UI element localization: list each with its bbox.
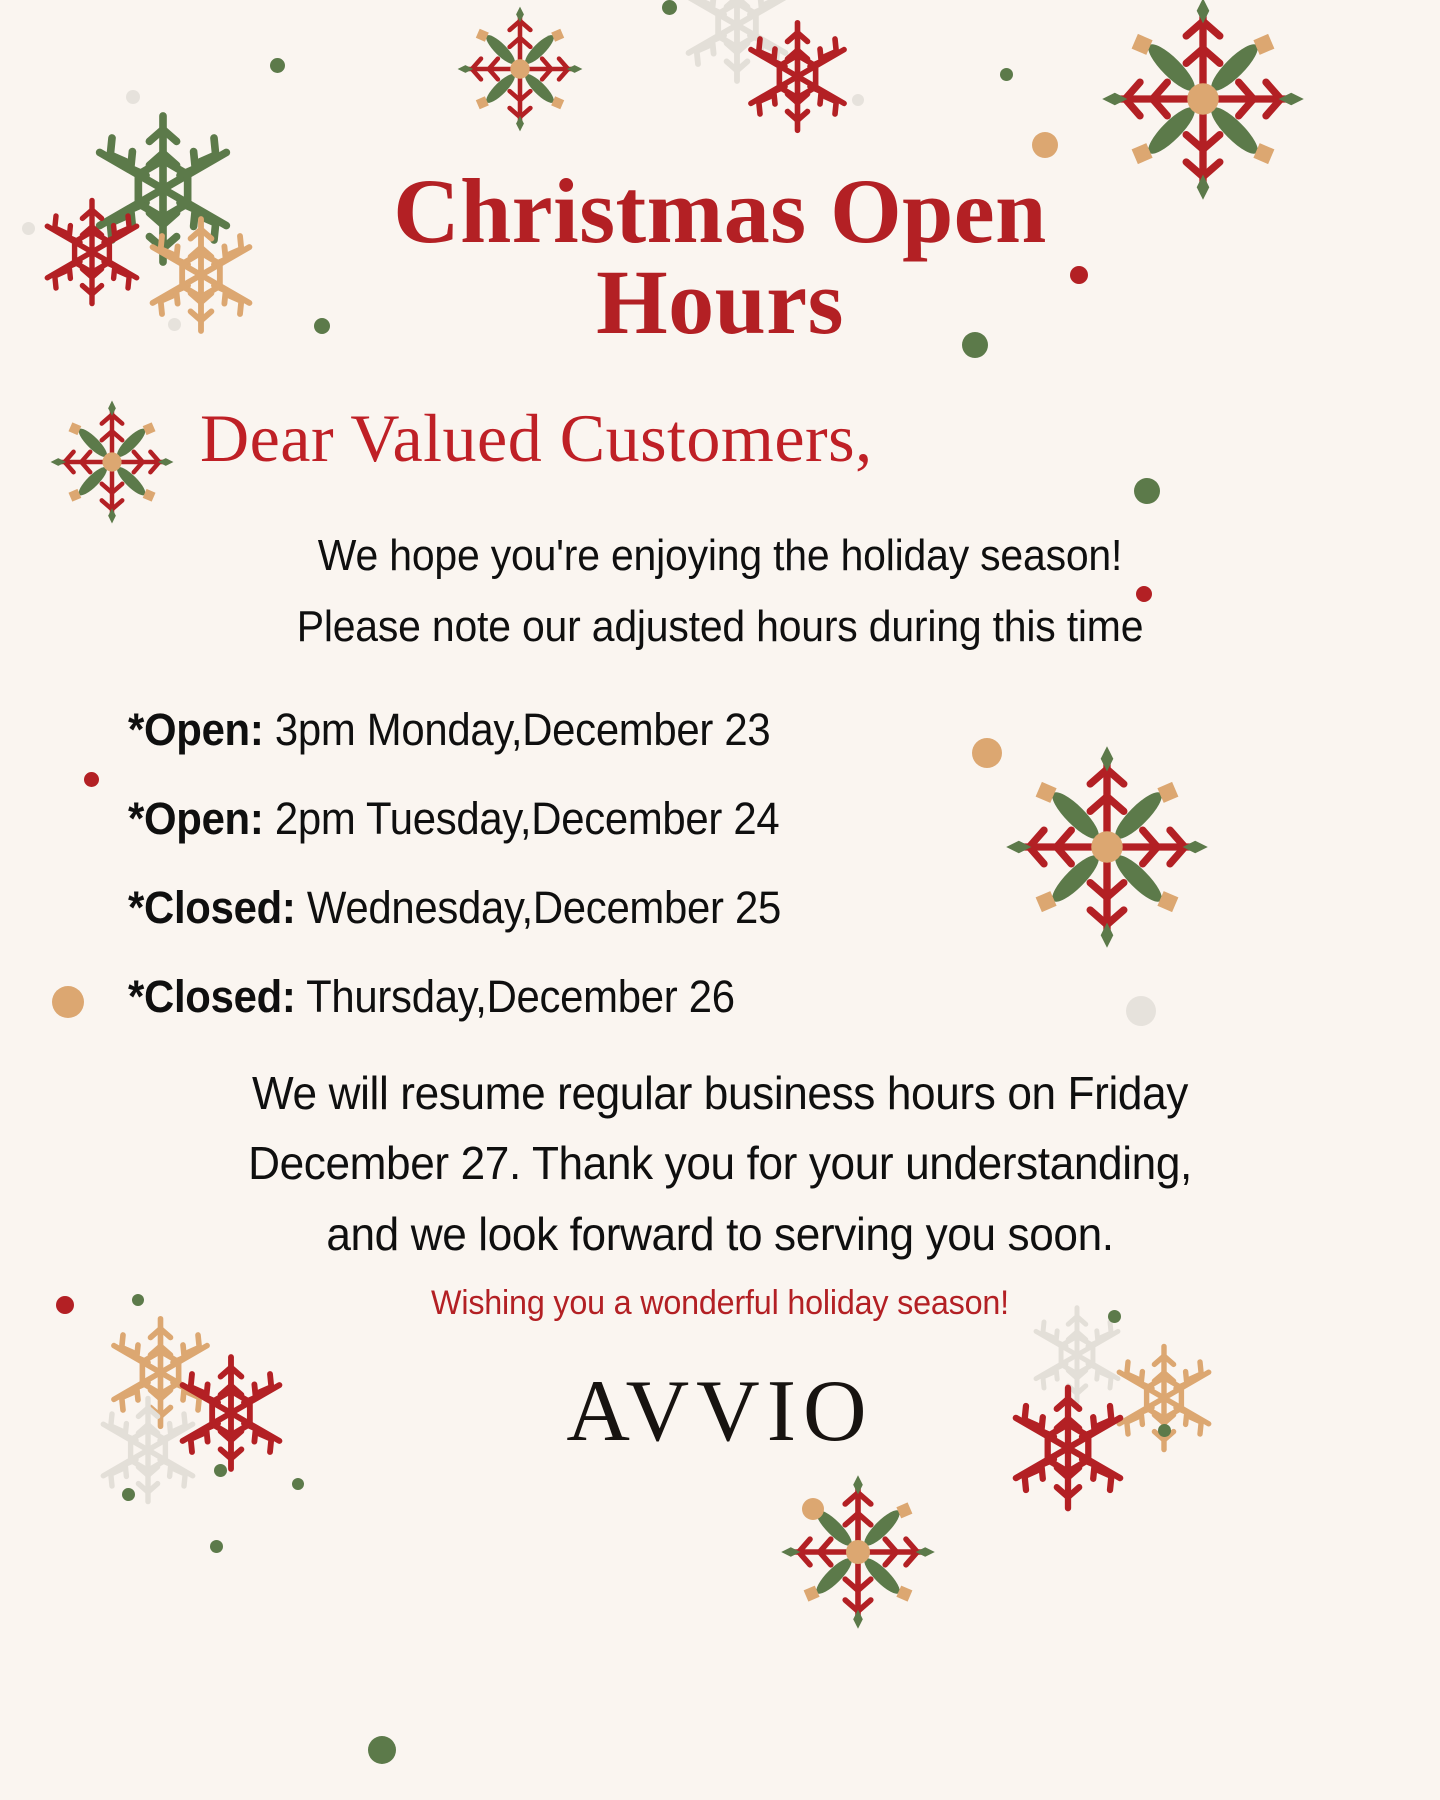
intro-line-1: We hope you're enjoying the holiday seas… — [50, 520, 1389, 591]
brand-logo: AVVIO — [0, 1368, 1440, 1456]
dot-green — [210, 1540, 223, 1553]
title-line-2: Hours — [0, 257, 1440, 348]
dot-green — [368, 1736, 396, 1764]
dot-green — [662, 0, 677, 15]
hours-label: *Closed: — [128, 971, 296, 1022]
closing-line-3: and we look forward to serving you soon. — [29, 1199, 1411, 1269]
dot-tan — [1032, 132, 1058, 158]
hours-label: *Open: — [128, 704, 264, 755]
dot-green — [1000, 68, 1013, 81]
snowflake-ornate-salutation — [48, 398, 176, 526]
page-title: Christmas Open Hours — [0, 166, 1440, 348]
closing-line-1: We will resume regular business hours on… — [29, 1058, 1411, 1128]
dot-green — [292, 1478, 304, 1490]
dot-green — [270, 58, 285, 73]
dot-white — [852, 94, 864, 106]
snowflake-white-top-center — [672, 0, 802, 90]
hours-row: *Closed: Thursday,December 26 — [128, 952, 1348, 1041]
hours-value: Thursday,December 26 — [306, 971, 735, 1022]
hours-row: *Open: 2pm Tuesday,December 24 — [128, 774, 1348, 863]
hours-value: Wednesday,December 25 — [307, 882, 781, 933]
hours-label: *Closed: — [128, 882, 296, 933]
snowflake-ornate-bottom-center — [778, 1472, 938, 1632]
dot-green — [214, 1464, 227, 1477]
body-block: We hope you're enjoying the holiday seas… — [0, 520, 1440, 1041]
hours-list: *Open: 3pm Monday,December 23 *Open: 2pm… — [0, 685, 1440, 1041]
salutation: Dear Valued Customers, — [200, 404, 873, 472]
hours-label: *Open: — [128, 793, 264, 844]
snowflake-ornate-top-center — [455, 4, 585, 134]
dot-white — [126, 90, 140, 104]
hours-value: 2pm Tuesday,December 24 — [275, 793, 780, 844]
closing-paragraph: We will resume regular business hours on… — [29, 1058, 1411, 1269]
dot-green — [122, 1488, 135, 1501]
intro-paragraph: We hope you're enjoying the holiday seas… — [50, 520, 1389, 663]
hours-row: *Open: 3pm Monday,December 23 — [128, 685, 1348, 774]
snowflake-red-top-center — [735, 14, 860, 139]
title-line-1: Christmas Open — [393, 160, 1047, 262]
holiday-hours-poster: Christmas Open Hours Dear Valued Custome… — [0, 0, 1440, 1800]
hours-value: 3pm Monday,December 23 — [275, 704, 771, 755]
dot-tan — [802, 1498, 824, 1520]
hours-row: *Closed: Wednesday,December 25 — [128, 863, 1348, 952]
closing-line-2: December 27. Thank you for your understa… — [29, 1128, 1411, 1198]
tagline: Wishing you a wonderful holiday season! — [36, 1283, 1404, 1324]
dot-green — [1134, 478, 1160, 504]
intro-line-2: Please note our adjusted hours during th… — [50, 591, 1389, 662]
